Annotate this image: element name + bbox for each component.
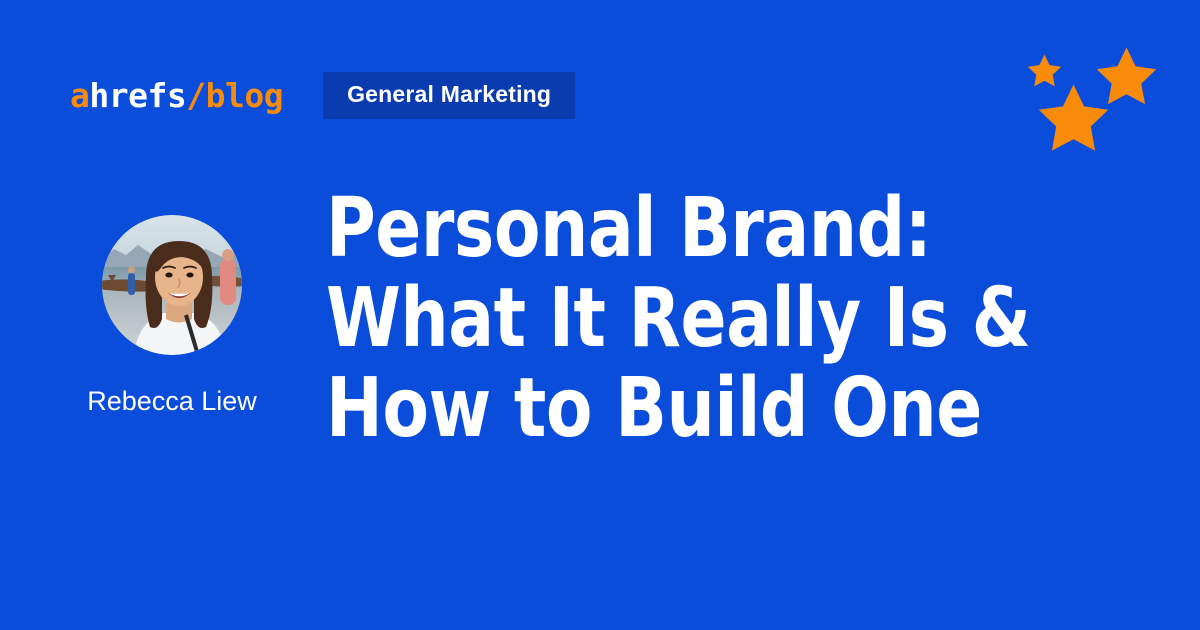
title-line-3: How to Build One: [326, 364, 1090, 454]
star-icon-small: [1028, 55, 1061, 87]
star-icon-group: [1028, 48, 1156, 151]
ahrefs-blog-logo[interactable]: ahrefs/blog: [70, 79, 283, 112]
social-share-card: ahrefs/blog General Marketing: [0, 0, 1200, 630]
author-block: Rebecca Liew: [62, 215, 282, 417]
star-icon-large: [1039, 85, 1108, 151]
title-line-1: Personal Brand:: [326, 184, 1090, 274]
avatar: [102, 215, 242, 355]
logo-slash: /: [186, 79, 205, 112]
avatar-photo-illustration: [102, 215, 242, 355]
page-title: Personal Brand: What It Really Is & How …: [326, 184, 1090, 454]
stars-decoration: [1018, 36, 1178, 161]
logo-text-blog: blog: [206, 79, 283, 112]
title-line-2: What It Really Is &: [326, 274, 1090, 364]
star-icon-medium: [1097, 48, 1156, 105]
logo-text-hrefs: hrefs: [89, 79, 186, 112]
card-header: ahrefs/blog General Marketing: [70, 72, 575, 119]
author-name: Rebecca Liew: [62, 387, 282, 417]
category-badge[interactable]: General Marketing: [323, 72, 575, 119]
logo-letter-a: a: [70, 79, 89, 112]
